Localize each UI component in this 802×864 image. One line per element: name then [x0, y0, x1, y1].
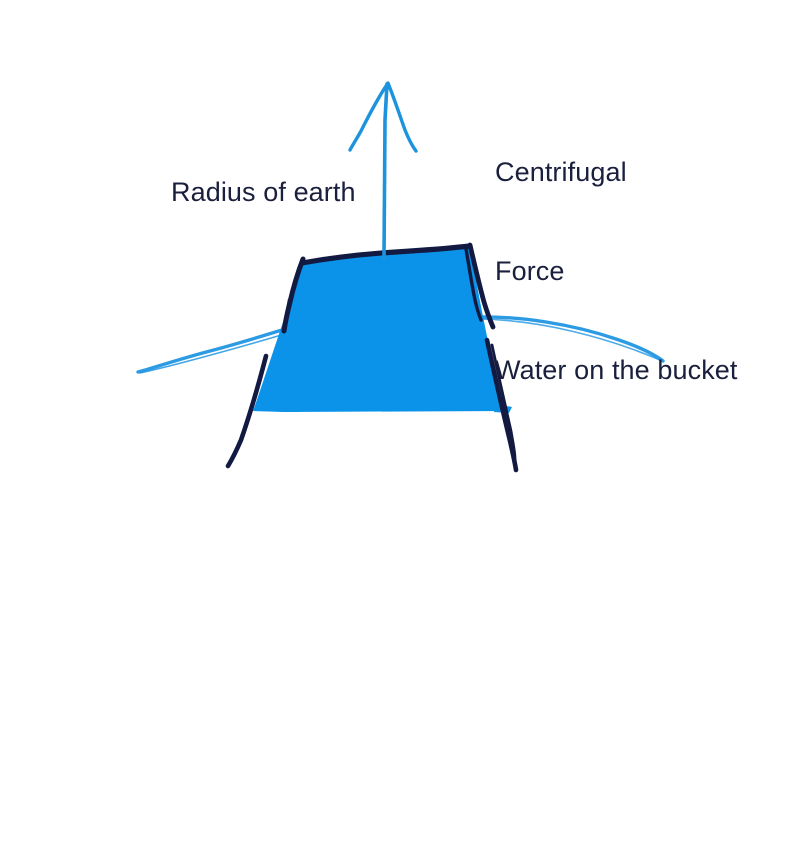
arrow-shaft: [384, 84, 387, 258]
sketch-canvas: Radius of earth Centrifugal Force Water …: [0, 0, 802, 864]
centrifugal-force-label-line-3: Water on the bucket: [495, 354, 738, 387]
radius-of-earth-label: Radius of earth: [171, 176, 356, 209]
arrow-head-left-barb: [350, 86, 386, 150]
earth-arc-left-taper: [140, 333, 288, 373]
arrow-head-right-barb: [388, 83, 416, 151]
centrifugal-force-label-line-2: Force: [495, 255, 738, 288]
bucket-water-fill: [253, 248, 512, 413]
centrifugal-force-arrow: [350, 83, 416, 258]
centrifugal-force-label-line-1: Centrifugal: [495, 156, 738, 189]
centrifugal-force-label: Centrifugal Force Water on the bucket: [495, 90, 738, 453]
